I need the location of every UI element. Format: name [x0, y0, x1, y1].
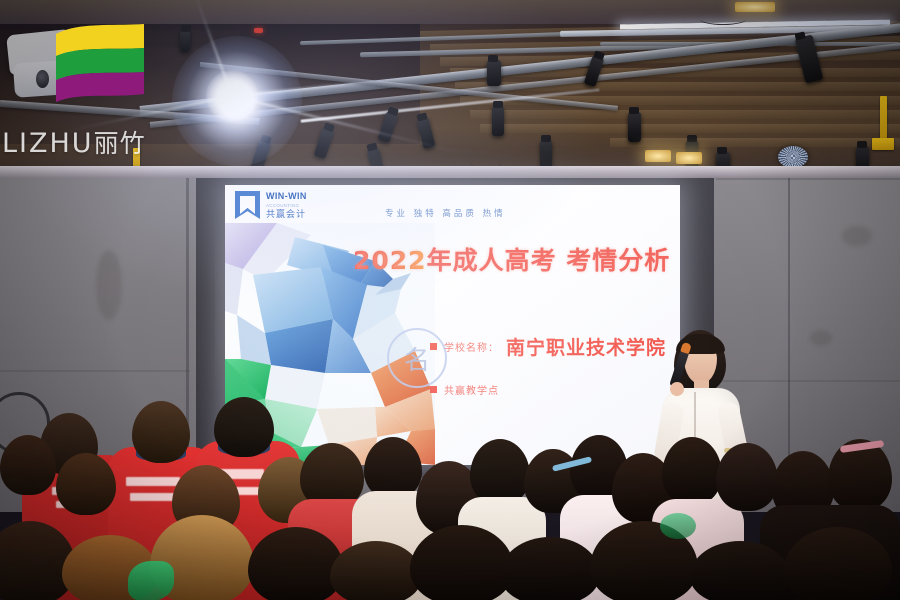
brand-name-sub: ACCOUNTING [266, 204, 307, 209]
presentation-photo-scene: WIN-WIN ACCOUNTING 共赢会计 专业 独特 高品质 热情 202… [0, 0, 900, 600]
camera-lens [36, 70, 49, 88]
bullet-square-icon [430, 386, 437, 393]
hair-accessory [128, 561, 174, 600]
warm-ceiling-lamp [735, 2, 775, 12]
slide-header: WIN-WIN ACCOUNTING 共赢会计 专业 独特 高品质 热情 [225, 185, 680, 225]
bullet-value: 南宁职业技术学院 [506, 333, 666, 360]
win-win-bookmark-logo [235, 191, 260, 219]
indicator-light [254, 28, 263, 33]
bullet-label: 学校名称： [444, 339, 499, 354]
spotlight [180, 30, 190, 52]
yellow-bracket [872, 138, 894, 150]
emblem-glyph: 名 [404, 340, 430, 377]
brand-name-en: WIN-WIN [266, 192, 307, 201]
vest-logo [130, 493, 178, 501]
vest-logo [126, 477, 180, 486]
wall-mark [96, 250, 122, 320]
bullet-square-icon [430, 343, 437, 350]
audience-head [132, 401, 190, 463]
audience-head [716, 443, 778, 511]
audience-head [56, 453, 116, 515]
spotlight [487, 60, 501, 86]
slide-tagline: 专业 独特 高品质 热情 [385, 207, 506, 219]
wood-plank [470, 110, 900, 119]
wall-mark [842, 226, 872, 246]
spotlight [628, 112, 641, 142]
wall-top-rail [0, 166, 900, 178]
win-win-brand-block: WIN-WIN ACCOUNTING 共赢会计 [235, 191, 307, 220]
warm-ceiling-lamp [676, 152, 702, 164]
warm-ceiling-lamp [645, 150, 671, 162]
hair-accessory [660, 513, 696, 539]
audience-head [0, 435, 56, 495]
bullet-row: 学校名称： 南宁职业技术学院 [430, 333, 666, 360]
audience-head [662, 437, 722, 505]
wood-plank [480, 124, 900, 133]
audience [0, 395, 900, 600]
brand-name-cn: 共赢会计 [266, 211, 307, 220]
audience-head [470, 439, 530, 505]
wall-mark [810, 330, 832, 346]
ceiling-vent-grill [778, 146, 808, 168]
slide-title-year: 2022 [353, 246, 427, 275]
yellow-bracket [880, 96, 887, 142]
audience-head [214, 397, 274, 457]
wall-seam [716, 178, 900, 180]
wall-seam [0, 370, 190, 372]
spotlight [492, 106, 504, 136]
slide-title: 2022年成人高考 考情分析 [353, 241, 670, 277]
audience-head [364, 437, 422, 499]
hanging-cable [700, 14, 746, 25]
ceiling [0, 0, 900, 180]
slide-title-rest: 年成人高考 考情分析 [427, 246, 671, 275]
